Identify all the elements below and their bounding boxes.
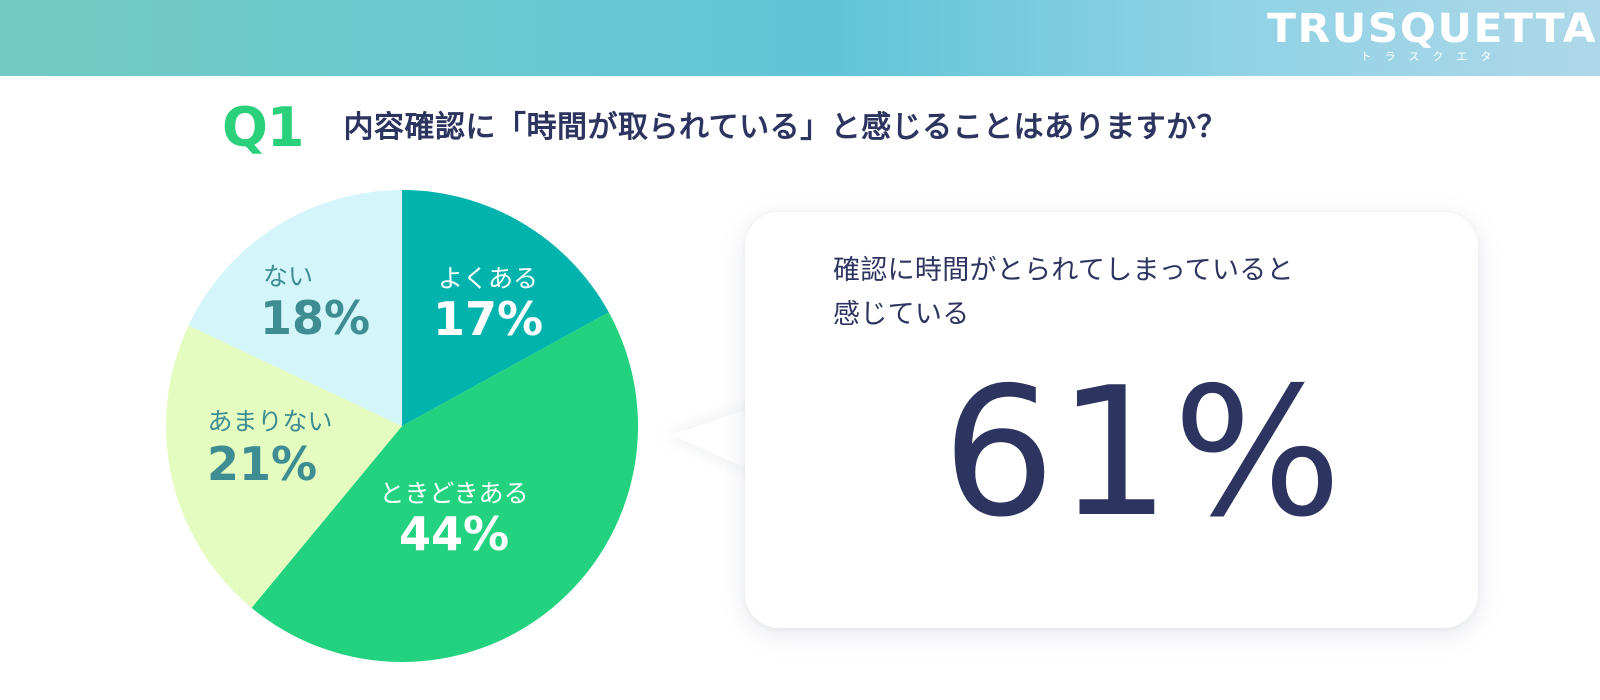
callout-lead-line-1: 確認に時間がとられてしまっていると [833,249,1453,293]
pie-label-yokuaru: よくある 17% [433,264,543,346]
pie-label-yokuaru-name: よくある [438,264,538,293]
brand-wordmark: TRUSQUETTA [1267,8,1585,50]
question-text: 内容確認に「時間が取られている」と感じることはありますか？ [343,110,1227,146]
pie-label-tokidoki: ときどきある 44% [379,479,528,561]
pie-label-tokidoki-value: 44% [399,507,509,561]
pie-chart-svg: よくある 17% ときどきある 44% あまりない 21% ない 18% [166,190,638,662]
header-bar: TRUSQUETTA トラスクエタ [0,0,1600,76]
pie-label-amarinai-name: あまりない [207,407,332,436]
pie-label-amarinai: あまりない 21% [207,407,333,491]
pie-label-amarinai-value: 21% [207,437,317,491]
callout-content: 確認に時間がとられてしまっていると 感じている 61% [833,249,1453,547]
question-heading: Q1 内容確認に「時間が取られている」と感じることはありますか？ [222,100,1227,156]
brand-kana-subtitle: トラスクエタ [1276,50,1576,64]
callout-headline-figure: 61% [833,359,1453,547]
callout-lead-line-2: 感じている [833,293,1453,337]
question-number-badge: Q1 [222,100,303,156]
pie-label-nai-value: 18% [260,291,370,345]
brand-logo: TRUSQUETTA トラスクエタ [1276,8,1576,64]
pie-label-yokuaru-value: 17% [433,292,543,346]
callout-tail [672,408,750,470]
pie-chart: よくある 17% ときどきある 44% あまりない 21% ない 18% [166,190,638,662]
pie-label-tokidoki-name: ときどきある [379,479,528,508]
pie-label-nai-name: ない [263,262,313,291]
